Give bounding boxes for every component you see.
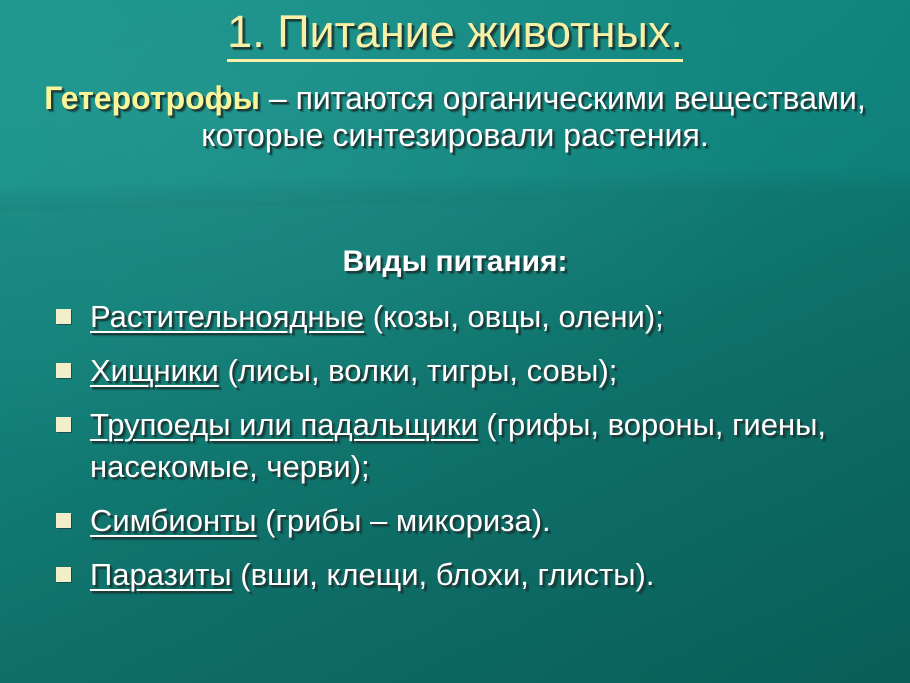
list-item-term: Трупоеды или падальщики <box>90 407 478 442</box>
square-bullet-icon <box>56 513 71 528</box>
slide-content: 1. Питание животных. Гетеротрофы – питаю… <box>0 0 910 683</box>
square-bullet-icon <box>56 567 71 582</box>
list-item: Симбионты (грибы – микориза). <box>50 500 895 542</box>
list-item-term: Симбионты <box>90 503 257 538</box>
list-item-detail: (вши, клещи, блохи, глисты). <box>232 557 655 592</box>
list-item: Хищники (лисы, волки, тигры, совы); <box>50 350 895 392</box>
list-item-detail: (лисы, волки, тигры, совы); <box>219 353 618 388</box>
slide-title: 1. Питание животных. <box>0 4 910 60</box>
feeding-types-list: Растительноядные (козы, овцы, олени); Хи… <box>50 296 895 596</box>
list-item-term: Паразиты <box>90 557 232 592</box>
list-item-term: Хищники <box>90 353 219 388</box>
list-item: Паразиты (вши, клещи, блохи, глисты). <box>50 554 895 596</box>
lead-rest-text: – питаются органическими веществами, кот… <box>201 80 865 153</box>
list-item-term: Растительноядные <box>90 299 364 334</box>
square-bullet-icon <box>56 417 71 432</box>
square-bullet-icon <box>56 309 71 324</box>
list-item: Трупоеды или падальщики (грифы, вороны, … <box>50 404 895 488</box>
square-bullet-icon <box>56 363 71 378</box>
section-heading: Виды питания: <box>0 245 910 279</box>
list-item-detail: (грибы – микориза). <box>257 503 551 538</box>
presentation-slide: 1. Питание животных. Гетеротрофы – питаю… <box>0 0 910 683</box>
lead-paragraph: Гетеротрофы – питаются органическими вещ… <box>28 80 882 154</box>
list-item-detail: (козы, овцы, олени); <box>364 299 664 334</box>
list-item: Растительноядные (козы, овцы, олени); <box>50 296 895 338</box>
lead-highlight-term: Гетеротрофы <box>44 80 260 116</box>
slide-title-text: 1. Питание животных. <box>227 6 683 62</box>
